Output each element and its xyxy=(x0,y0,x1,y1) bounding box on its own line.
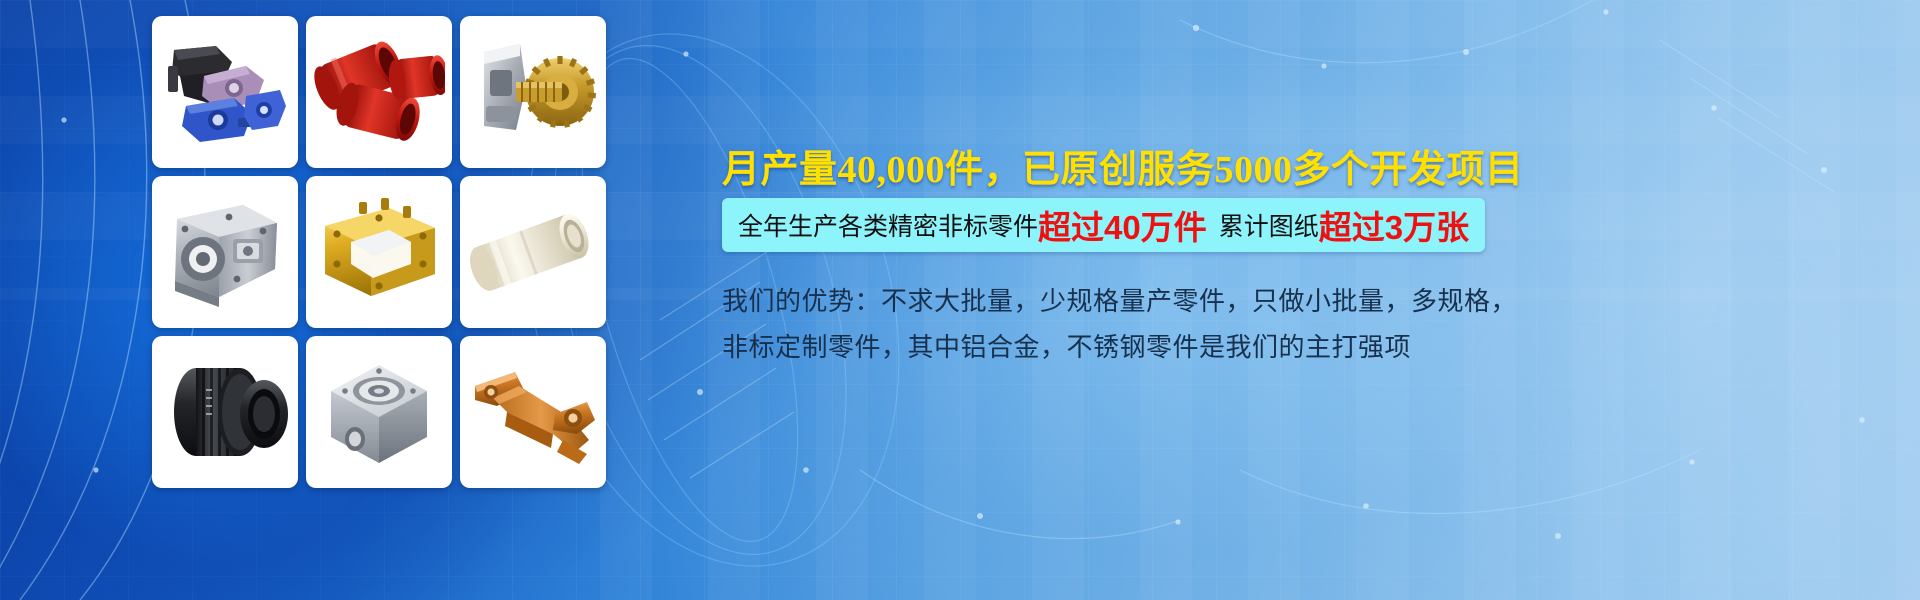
highlight-segment-2-emphasis: 超过40万件 xyxy=(1038,201,1207,249)
gallery-item-gold-anodized-square-frame[interactable] xyxy=(306,176,452,328)
gallery-item-black-purple-blue-anodized-brackets[interactable] xyxy=(152,16,298,168)
body-copy-line-2: 非标定制零件，其中铝合金，不锈钢零件是我们的主打强项 xyxy=(722,324,1442,370)
promo-banner: 月产量40,000件，已原创服务5000多个开发项目 全年生产各类精密非标零件超… xyxy=(0,0,1920,600)
gallery-item-grey-aluminum-gearbox-housing[interactable] xyxy=(152,176,298,328)
copper-anodized-bracket-arm-image xyxy=(467,356,599,468)
highlight-stats-bar: 全年生产各类精密非标零件超过40万件累计图纸超过3万张 xyxy=(722,198,1485,252)
brass-worm-gear-assembly-image xyxy=(468,34,598,150)
highlight-segment-1: 全年生产各类精密非标零件 xyxy=(738,207,1038,243)
machined-aluminum-cube-block-image xyxy=(317,353,441,471)
black-ribbed-cylindrical-hub-image xyxy=(160,352,290,472)
gold-anodized-square-frame-image xyxy=(315,194,443,310)
white-plastic-cylindrical-shell-image xyxy=(467,200,599,304)
product-gallery-grid xyxy=(152,16,606,488)
gallery-item-copper-anodized-bracket-arm[interactable] xyxy=(460,336,606,488)
highlight-segment-3: 累计图纸 xyxy=(1219,207,1319,243)
gallery-item-red-anodized-cylindrical-housings[interactable] xyxy=(306,16,452,168)
body-copy-line-1: 我们的优势：不求大批量，少规格量产零件，只做小批量，多规格， xyxy=(722,278,1442,324)
banner-body-copy: 我们的优势：不求大批量，少规格量产零件，只做小批量，多规格， 非标定制零件，其中… xyxy=(722,278,1442,370)
gallery-item-brass-worm-gear-assembly[interactable] xyxy=(460,16,606,168)
black-purple-blue-anodized-brackets-image xyxy=(160,32,290,152)
gallery-item-black-ribbed-cylindrical-hub[interactable] xyxy=(152,336,298,488)
red-anodized-cylindrical-housings-image xyxy=(313,33,445,151)
highlight-segment-4-emphasis: 超过3万张 xyxy=(1319,201,1469,249)
banner-headline: 月产量40,000件，已原创服务5000多个开发项目 xyxy=(722,138,1902,193)
grey-aluminum-gearbox-housing-image xyxy=(159,193,291,311)
gallery-item-white-plastic-cylindrical-shell[interactable] xyxy=(460,176,606,328)
gallery-item-machined-aluminum-cube-block[interactable] xyxy=(306,336,452,488)
